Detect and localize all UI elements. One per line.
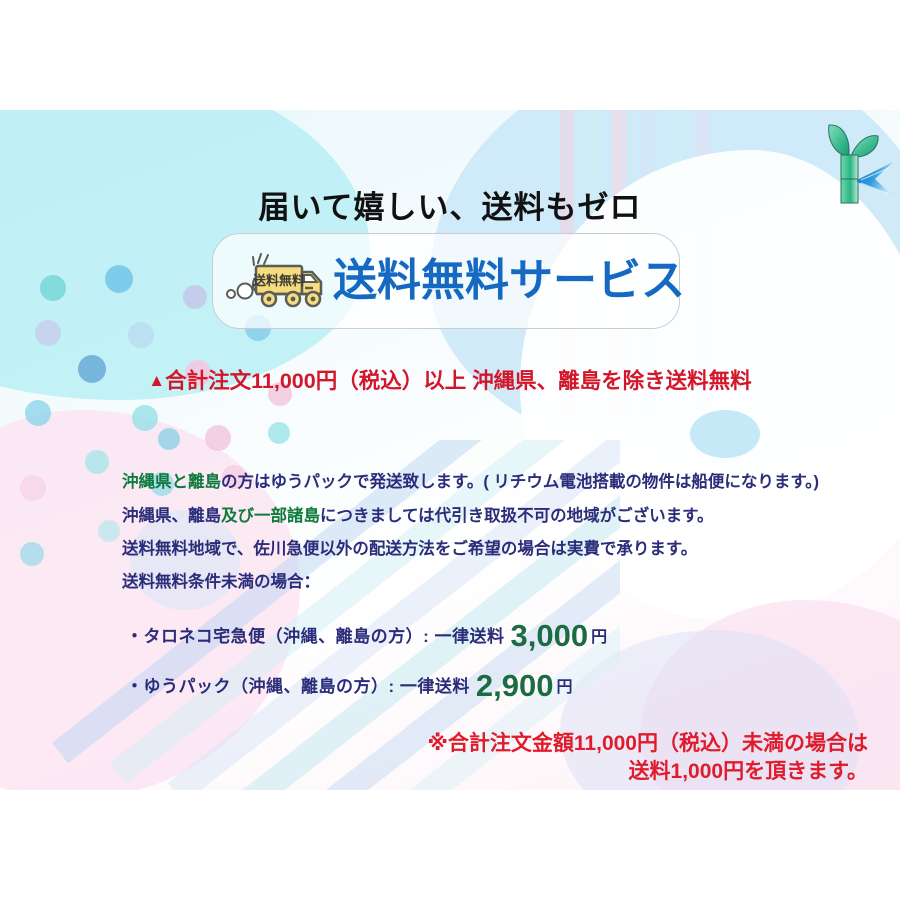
decorative-dot [128,322,154,348]
decorative-dot [25,400,51,426]
fee-row-yamato: ・タロネコ宅急便（沖縄、離島の方）: 一律送料3,000円 [126,618,608,654]
note-1-rest: の方はゆうパックで発送致します。( リチウム電池搭載の物件は船便になります。) [221,473,819,491]
note-2-highlight: 及び一部諸島 [221,507,320,525]
fee-label: ・タロネコ宅急便（沖縄、離島の方）: 一律送料 [126,627,505,646]
fee-amount: 2,900 [476,668,554,703]
fee-amount: 3,000 [511,618,589,653]
decorative-dot [183,285,207,309]
note-2-part-a: 沖縄県、離島 [122,507,221,525]
decorative-dot [132,405,158,431]
decorative-dot [158,428,180,450]
shipping-notes: 沖縄県と離島の方はゆうパックで発送致します。( リチウム電池搭載の物件は船便にな… [122,474,882,590]
decorative-dot [205,425,231,451]
note-line-2: 沖縄県、離島及び一部諸島につきましては代引き取扱不可の地域がございます。 [122,508,882,525]
decorative-dot [98,520,120,542]
decorative-dot [20,475,46,501]
decorative-dot [105,265,133,293]
decorative-dot [35,320,61,346]
note-line-4: 送料無料条件未満の場合： [122,574,882,591]
fee-label: ・ゆうパック（沖縄、離島の方）: 一律送料 [126,677,470,696]
decorative-dot [85,450,109,474]
fee-unit: 円 [591,629,608,646]
warning-line-1: ※合計注文金額11,000円（税込）未満の場合は [0,730,868,758]
decorative-dot [40,275,66,301]
page-headline: 届いて嬉しい、送料もゼロ [0,182,900,227]
free-shipping-title: 送料無料サービス [333,259,685,303]
note-line-3: 送料無料地域で、佐川急便以外の配送方法をご希望の場合は実費で承ります。 [122,541,882,558]
shipping-condition-line: ▲合計注文11,000円（税込）以上 沖縄県、離島を除き送料無料 [0,364,900,395]
triangle-marker: ▲ [148,371,165,390]
shipping-warning: ※合計注文金額11,000円（税込）未満の場合は 送料1,000円を頂きます。 [0,730,868,787]
warning-line-2: 送料1,000円を頂きます。 [0,758,868,786]
note-2-rest: につきましては代引き取扱不可の地域がございます。 [320,507,714,525]
free-shipping-title-pill: 送料無料 送料無料サービス [212,233,680,329]
note-1-highlight: 沖縄県と離島 [122,473,221,491]
decorative-dot [20,542,44,566]
decorative-dot [268,422,290,444]
fee-row-yupack: ・ゆうパック（沖縄、離島の方）: 一律送料2,900円 [126,668,573,704]
fee-unit: 円 [556,679,573,696]
note-line-1: 沖縄県と離島の方はゆうパックで発送致します。( リチウム電池搭載の物件は船便にな… [122,474,882,491]
shipping-condition-text: 合計注文11,000円（税込）以上 沖縄県、離島を除き送料無料 [165,369,752,393]
truck-label: 送料無料 [252,273,305,288]
shipping-banner: 届いて嬉しい、送料もゼロ [0,0,900,900]
delivery-truck-icon: 送料無料 [223,248,331,314]
blob-cyan-small [690,410,760,458]
